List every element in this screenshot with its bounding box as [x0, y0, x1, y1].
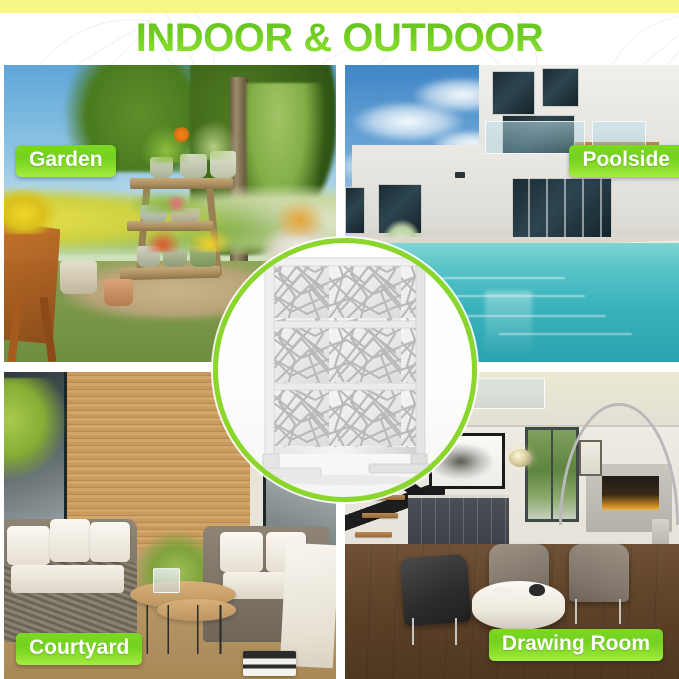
badge-poolside: Poolside	[569, 145, 679, 177]
badge-drawing-room: Drawing Room	[489, 629, 663, 661]
badge-courtyard: Courtyard	[16, 633, 142, 665]
page-title: INDOOR & OUTDOOR	[0, 13, 679, 65]
badge-garden: Garden	[16, 145, 116, 177]
product-spotlight-circle[interactable]	[213, 238, 477, 502]
poster-root: INDOOR & OUTDOOR	[0, 0, 679, 679]
top-accent-strip	[0, 0, 679, 13]
privacy-screen-product	[257, 254, 433, 486]
